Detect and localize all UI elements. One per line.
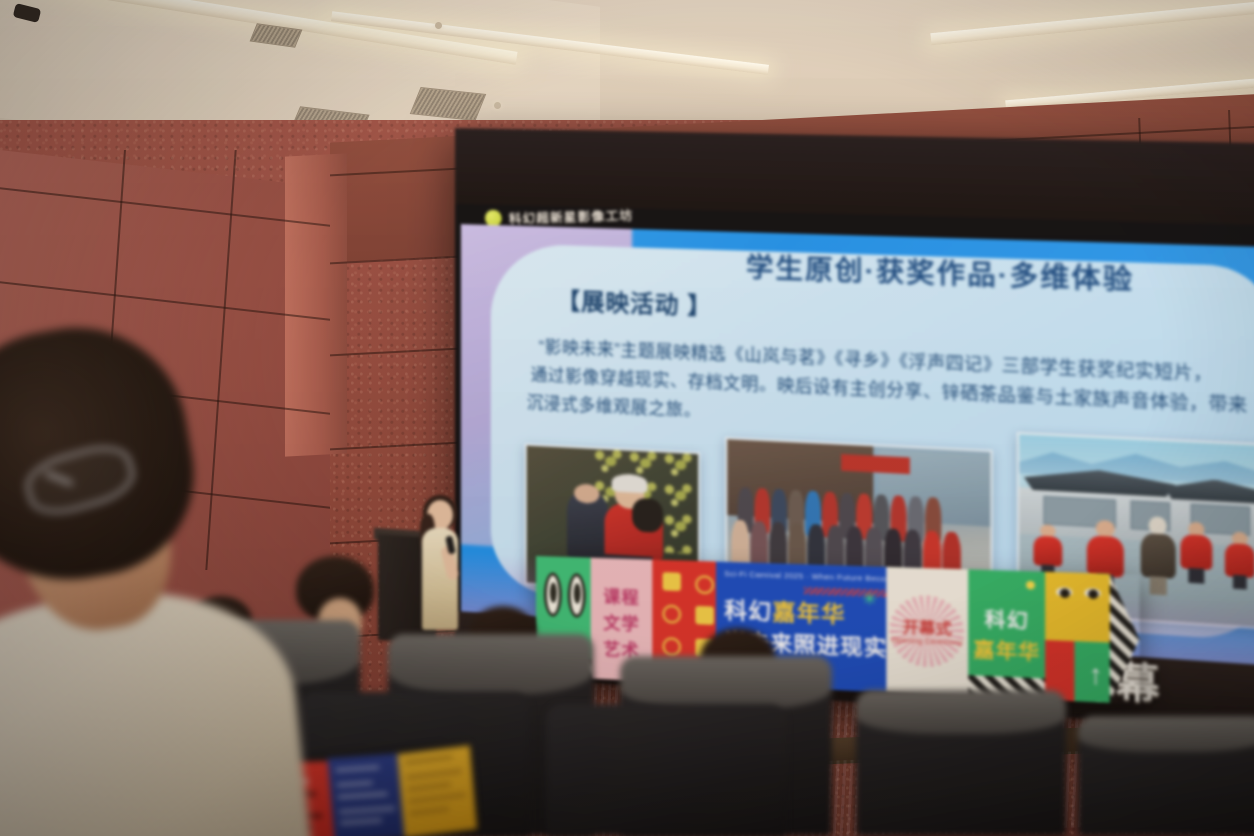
downlight (435, 22, 442, 29)
downlight (494, 102, 501, 109)
up-arrow-icon: ↑ (1088, 658, 1103, 692)
seal-cn-label: 开幕式 (903, 616, 952, 640)
auditorium-seat (1078, 716, 1254, 836)
sign-pink-line-1: 课程 (603, 582, 639, 609)
brochure-panel-gold (398, 745, 478, 836)
sparkle-icon (696, 575, 715, 594)
slide-headline-sub: 【展映活动 】 (557, 281, 712, 321)
seat-headrest (620, 656, 832, 710)
badge-icon (696, 606, 715, 625)
robot-eyes-icon (1054, 585, 1103, 601)
workshop-logo-label: 科幻超新星影像工坊 (508, 205, 634, 228)
sign-panel-seal: 开幕式 Opening Ceremony (886, 567, 969, 696)
eyes-icon (544, 572, 586, 618)
sign-panel-carnival: 科幻 嘉年华 (969, 569, 1046, 699)
sign-panel-robot: ↑ (1045, 572, 1109, 703)
sign-blue-heading-accent: 嘉年华 (772, 599, 845, 628)
presenter (414, 500, 466, 630)
auditorium-seat (546, 704, 786, 836)
smile-icon (663, 637, 681, 656)
seat-headrest (856, 690, 1066, 734)
brochure-panel-blue (327, 753, 405, 836)
seat-headrest (388, 634, 594, 695)
seat-headrest (1078, 716, 1254, 752)
dot-icon (1026, 581, 1035, 590)
sign-green-line-1: 科幻 (985, 604, 1030, 634)
workshop-logo: 科幻超新星影像工坊 (484, 205, 634, 228)
sign-arrow-tip (1109, 574, 1139, 704)
noodle-icon (663, 572, 681, 591)
circle-icon (663, 605, 681, 624)
sign-blue-heading-prefix: 科幻 (724, 598, 772, 625)
auditorium-scene: 科幻超新星影像工坊 学生原创·获奖作品·多维体验 【展映活动 】 “影映未来”主… (0, 0, 1254, 836)
slide-headline-main: 学生原创·获奖作品·多维体验 (746, 247, 1134, 298)
viewer-shoulder (0, 576, 315, 836)
opening-ceremony-seal: 开幕式 Opening Ceremony (890, 594, 964, 668)
auditorium-seat (856, 690, 1066, 836)
asterisk-icon: ✳ (862, 589, 877, 610)
foreground-viewer (0, 330, 300, 836)
sign-green-line-2: 嘉年华 (973, 634, 1040, 665)
sign-blue-kicker: Sci-Fi Carnival 2025 · When Future Becom… (724, 569, 877, 583)
sign-pink-line-2: 文学 (603, 608, 639, 635)
seal-en-label: Opening Ceremony (891, 637, 963, 647)
slide-body-line-3: 沉浸式多维观展之旅。 (527, 389, 702, 421)
